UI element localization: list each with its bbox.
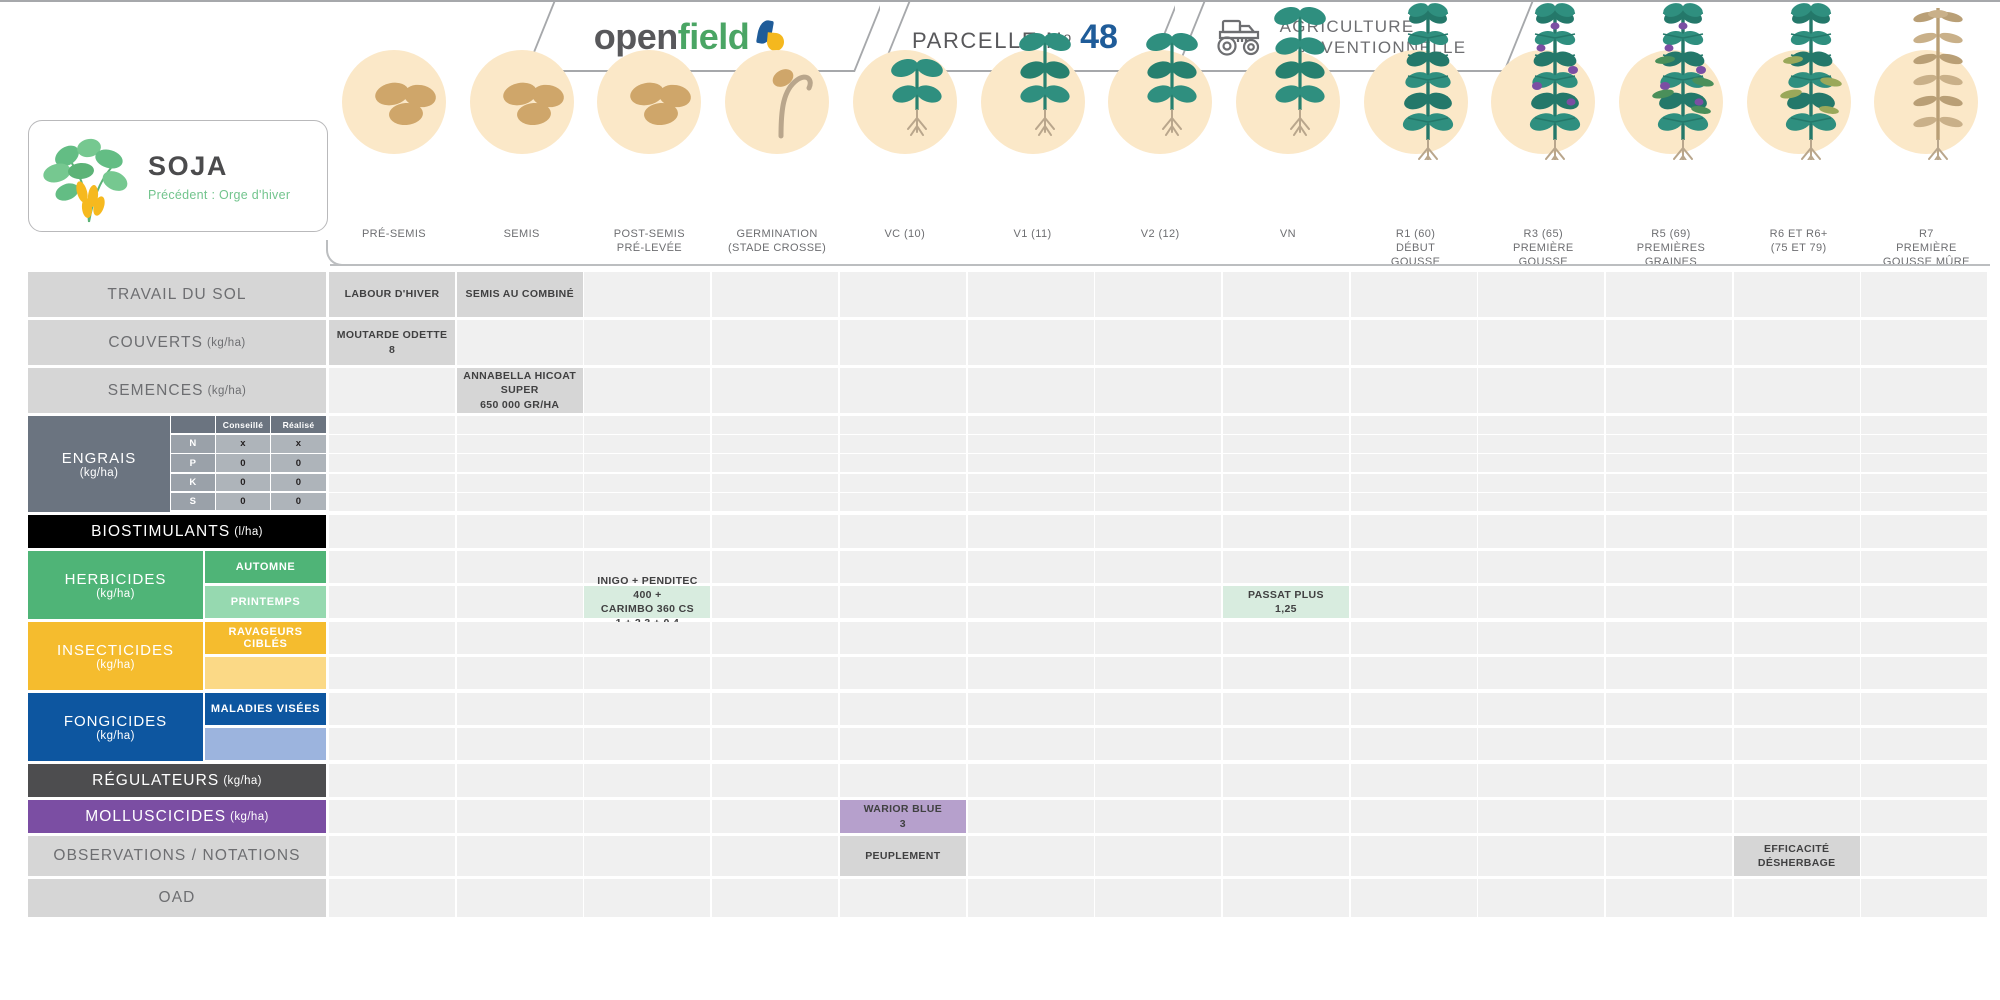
grid-cell-empty[interactable]	[712, 515, 838, 548]
grid-cell[interactable]: LABOUR D'HIVER	[329, 272, 455, 317]
grid-cell-empty[interactable]	[329, 551, 455, 583]
grid-cell-empty[interactable]	[968, 493, 1094, 511]
grid-cell-empty[interactable]	[1606, 879, 1732, 917]
grid-cell-empty[interactable]	[1606, 622, 1732, 654]
grid-cell-empty[interactable]	[584, 622, 710, 654]
grid-cell-empty[interactable]	[1095, 368, 1221, 413]
grid-cell-empty[interactable]	[1095, 836, 1221, 876]
grid-cell-empty[interactable]	[1861, 836, 1987, 876]
fongicides-sub-b[interactable]	[205, 728, 326, 760]
grid-cell-empty[interactable]	[1861, 320, 1987, 365]
grid-cell-empty[interactable]	[968, 693, 1094, 725]
row-fongicides: FONGICIDES (kg/ha) MALADIES VISÉES	[28, 693, 1990, 761]
grid-cell-empty[interactable]	[457, 657, 583, 689]
grid-cell[interactable]: PASSAT PLUS1,25	[1223, 586, 1349, 618]
row-label-regulateurs[interactable]: RÉGULATEURS(kg/ha)	[28, 764, 326, 797]
grid-cell-empty[interactable]	[1478, 728, 1604, 760]
grid-cell-empty[interactable]	[1223, 764, 1349, 797]
grid-cell-empty[interactable]	[1478, 622, 1604, 654]
grid-cell-empty[interactable]	[329, 435, 455, 453]
engrais-conseille[interactable]: x	[216, 435, 270, 452]
grid-cell-empty[interactable]	[584, 800, 710, 833]
grid-cell-empty[interactable]	[584, 764, 710, 797]
grid-cell-empty[interactable]	[1734, 454, 1860, 472]
grid-cell-empty[interactable]	[1095, 493, 1221, 511]
grid-cell-empty[interactable]	[584, 320, 710, 365]
grid-cell-empty[interactable]	[1223, 493, 1349, 511]
grid-cell-empty[interactable]	[840, 454, 966, 472]
grid-cell-empty[interactable]	[329, 879, 455, 917]
grid-cell-empty[interactable]	[457, 728, 583, 760]
grid-cell-empty[interactable]	[1861, 272, 1987, 317]
grid-cell-empty[interactable]	[840, 586, 966, 618]
grid-cell-empty[interactable]	[584, 368, 710, 413]
grid-cell[interactable]: INIGO + PENDITEC 400 +CARIMBO 360 CS1 + …	[584, 586, 710, 618]
grid-cell-empty[interactable]	[1606, 800, 1732, 833]
grid-cell-empty[interactable]	[1606, 416, 1732, 434]
grid-cell-empty[interactable]	[968, 416, 1094, 434]
grid-cell-empty[interactable]	[1606, 320, 1732, 365]
grid-cell-empty[interactable]	[1606, 693, 1732, 725]
grid-cell-empty[interactable]	[968, 879, 1094, 917]
grid-cell[interactable]: MOUTARDE ODETTE8	[329, 320, 455, 365]
grid-cell-empty[interactable]	[1478, 586, 1604, 618]
grid-cell-empty[interactable]	[1095, 764, 1221, 797]
grid-cell-empty[interactable]	[1223, 657, 1349, 689]
grid-cell-empty[interactable]	[584, 435, 710, 453]
engrais-realise[interactable]: 0	[271, 493, 326, 510]
engrais-realise[interactable]: 0	[271, 474, 326, 491]
grid-cell-empty[interactable]	[1223, 800, 1349, 833]
grid-cell-empty[interactable]	[584, 728, 710, 760]
row-regulateurs: RÉGULATEURS(kg/ha)	[28, 764, 1990, 797]
grid-cell-empty[interactable]	[1861, 474, 1987, 492]
stage-column-13[interactable]: R7PREMIÈREGOUSSE MÛRE	[1862, 50, 1990, 154]
grid-cell-empty[interactable]	[1734, 693, 1860, 725]
grid-cell-empty[interactable]	[457, 435, 583, 453]
grid-cell-empty[interactable]	[457, 454, 583, 472]
grid-cell-empty[interactable]	[1223, 551, 1349, 583]
grid-cell-empty[interactable]	[584, 879, 710, 917]
grid-cell-empty[interactable]	[840, 764, 966, 797]
grid-cell-empty[interactable]	[1861, 693, 1987, 725]
insecticides-sub-a[interactable]: RAVAGEURS CIBLÉS	[205, 622, 326, 654]
grid-cell-empty[interactable]	[840, 622, 966, 654]
grid-cell-empty[interactable]	[584, 474, 710, 492]
grid-cell-empty[interactable]	[712, 416, 838, 434]
grid-cell-empty[interactable]	[840, 657, 966, 689]
grid-cell-empty[interactable]	[1606, 272, 1732, 317]
stage-column-2[interactable]: SEMIS	[458, 50, 586, 154]
grid-cell-empty[interactable]	[329, 657, 455, 689]
grid-cell-empty[interactable]	[1478, 474, 1604, 492]
grid-cell-empty[interactable]	[1734, 800, 1860, 833]
grid-cell-empty[interactable]	[1223, 474, 1349, 492]
stage-column-6[interactable]: V1 (11)	[969, 50, 1097, 154]
grid-cell-empty[interactable]	[1351, 493, 1477, 511]
grid-cell-empty[interactable]	[1734, 435, 1860, 453]
grid-cell-empty[interactable]	[1223, 515, 1349, 548]
grid-cell-empty[interactable]	[457, 515, 583, 548]
stage-column-10[interactable]: R3 (65)PREMIÈREGOUSSE	[1479, 50, 1607, 154]
grid-cell-empty[interactable]	[1095, 320, 1221, 365]
grid-cell-empty[interactable]	[1478, 416, 1604, 434]
grid-cell-empty[interactable]	[1861, 493, 1987, 511]
grid-cell-empty[interactable]	[1734, 416, 1860, 434]
grid-cell-empty[interactable]	[329, 693, 455, 725]
grid-cell-empty[interactable]	[968, 474, 1094, 492]
grid-cell-empty[interactable]	[840, 515, 966, 548]
stage-column-5[interactable]: VC (10)	[841, 50, 969, 154]
grid-cell-empty[interactable]	[1478, 493, 1604, 511]
grid-cell-empty[interactable]	[329, 836, 455, 876]
engrais-realise[interactable]: x	[271, 435, 326, 452]
grid-cell-empty[interactable]	[1734, 474, 1860, 492]
grid-cell-empty[interactable]	[1351, 515, 1477, 548]
grid-cell-empty[interactable]	[1095, 435, 1221, 453]
row-cells-semences: ANNABELLA HICOATSUPER650 000 GR/HA	[329, 368, 1990, 413]
grid-cell[interactable]: PEUPLEMENT	[840, 836, 966, 876]
grid-cell-empty[interactable]	[1351, 454, 1477, 472]
grid-cell-empty[interactable]	[712, 693, 838, 725]
grid-cell-empty[interactable]	[1734, 728, 1860, 760]
grid-cell-empty[interactable]	[1606, 764, 1732, 797]
grid-cell-empty[interactable]	[1095, 272, 1221, 317]
grid-cell-empty[interactable]	[1351, 657, 1477, 689]
row-label-couverts[interactable]: COUVERTS(kg/ha)	[28, 320, 326, 365]
grid-cell-empty[interactable]	[1734, 764, 1860, 797]
grid-cell-empty[interactable]	[1734, 272, 1860, 317]
grid-cell[interactable]: WARIOR BLUE3	[840, 800, 966, 833]
fongicides-sub-a[interactable]: MALADIES VISÉES	[205, 693, 326, 725]
grid-cell-empty[interactable]	[1223, 320, 1349, 365]
grid-cell-empty[interactable]	[1478, 368, 1604, 413]
crop-previous: Précédent : Orge d'hiver	[148, 188, 290, 202]
grid-cell-empty[interactable]	[840, 368, 966, 413]
grid-cell-empty[interactable]	[1351, 800, 1477, 833]
grid-cell-empty[interactable]	[712, 622, 838, 654]
grid-cell-empty[interactable]	[1478, 693, 1604, 725]
grid-cell-empty[interactable]	[329, 728, 455, 760]
grid-cell-empty[interactable]	[1223, 622, 1349, 654]
stage-column-8[interactable]: VN	[1224, 50, 1352, 154]
grid-cell-empty[interactable]	[1478, 764, 1604, 797]
grid-cell-empty[interactable]	[1095, 515, 1221, 548]
grid-cell-empty[interactable]	[712, 764, 838, 797]
grid-cell-empty[interactable]	[1095, 879, 1221, 917]
engrais-table: Conseillé Réalisé N x x P 0 0 K 0 0 S 0 …	[171, 416, 326, 512]
grid-cell-empty[interactable]	[712, 586, 838, 618]
grid-cell-empty[interactable]	[1351, 622, 1477, 654]
grid-cell-empty[interactable]	[1734, 368, 1860, 413]
grid-cell-empty[interactable]	[1606, 454, 1732, 472]
row-cells-fongicides-b	[329, 728, 1990, 760]
row-cells-fongicides-a	[329, 693, 1990, 725]
grid-cell-empty[interactable]	[329, 586, 455, 618]
row-label-oad[interactable]: OAD	[28, 879, 326, 917]
grid-cell-empty[interactable]	[1351, 764, 1477, 797]
grid-cell-empty[interactable]	[1478, 454, 1604, 472]
grid-cell-empty[interactable]	[1861, 764, 1987, 797]
grid-cell-empty[interactable]	[1223, 728, 1349, 760]
grid-cell-empty[interactable]	[1351, 879, 1477, 917]
grid-cell-empty[interactable]	[840, 435, 966, 453]
grid-cell-empty[interactable]	[457, 474, 583, 492]
grid-cell-empty[interactable]	[584, 493, 710, 511]
grid-cell-empty[interactable]	[1095, 551, 1221, 583]
herbicides-sub-b[interactable]: PRINTEMPS	[205, 586, 326, 618]
row-label-molluscicides[interactable]: MOLLUSCICIDES(kg/ha)	[28, 800, 326, 833]
stage-column-3[interactable]: POST-SEMISPRÉ-LEVÉE	[585, 50, 713, 154]
grid-cell-empty[interactable]	[1606, 515, 1732, 548]
insecticides-sub-b[interactable]	[205, 657, 326, 689]
grid-cell-empty[interactable]	[1861, 728, 1987, 760]
grid-cell-empty[interactable]	[840, 551, 966, 583]
grid-cell-empty[interactable]	[968, 622, 1094, 654]
grid-cell-empty[interactable]	[1606, 836, 1732, 876]
grid-cell-empty[interactable]	[712, 728, 838, 760]
grid-cell-empty[interactable]	[457, 800, 583, 833]
grid-cell-empty[interactable]	[1606, 728, 1732, 760]
grid-cell-empty[interactable]	[840, 272, 966, 317]
grid-cell-empty[interactable]	[1223, 435, 1349, 453]
row-label-observations[interactable]: OBSERVATIONS / NOTATIONS	[28, 836, 326, 876]
grid-cell-empty[interactable]	[1478, 551, 1604, 583]
grid-cell-empty[interactable]	[1223, 836, 1349, 876]
grid-cell-empty[interactable]	[1734, 879, 1860, 917]
grid-cell-empty[interactable]	[329, 515, 455, 548]
grid-cell-empty[interactable]	[457, 836, 583, 876]
grid-cell-empty[interactable]	[1095, 454, 1221, 472]
grid-cell-empty[interactable]	[1351, 836, 1477, 876]
herbicides-sub-a[interactable]: AUTOMNE	[205, 551, 326, 583]
grid-cell-empty[interactable]	[712, 474, 838, 492]
engrais-conseille[interactable]: 0	[216, 493, 270, 510]
grid-cell-empty[interactable]	[1478, 879, 1604, 917]
grid-cell-empty[interactable]	[1095, 657, 1221, 689]
grid-cell-empty[interactable]	[968, 728, 1094, 760]
grid-cell-empty[interactable]	[584, 693, 710, 725]
grid-cell-empty[interactable]	[840, 320, 966, 365]
grid-cell-empty[interactable]	[1734, 586, 1860, 618]
grid-cell-empty[interactable]	[457, 416, 583, 434]
grid-cell-empty[interactable]	[457, 693, 583, 725]
row-label-text: RÉGULATEURS	[92, 772, 219, 790]
grid-cell-empty[interactable]	[1478, 435, 1604, 453]
grid-cell-empty[interactable]	[584, 454, 710, 472]
grid-cell-empty[interactable]	[1351, 320, 1477, 365]
grid-cell-empty[interactable]	[1095, 416, 1221, 434]
grid-cell-empty[interactable]	[457, 320, 583, 365]
row-label-herbicides[interactable]: HERBICIDES (kg/ha)	[28, 551, 203, 619]
stage-circle	[342, 50, 446, 154]
grid-cell-empty[interactable]	[1606, 551, 1732, 583]
stage-column-9[interactable]: R1 (60)DÉBUTGOUSSE	[1352, 50, 1480, 154]
grid-cell-empty[interactable]	[1095, 693, 1221, 725]
grid-cell-empty[interactable]	[584, 836, 710, 876]
grid-cell-empty[interactable]	[1351, 368, 1477, 413]
grid-cell-empty[interactable]	[1351, 272, 1477, 317]
grid-cell-empty[interactable]	[1861, 879, 1987, 917]
grid-cell-empty[interactable]	[1223, 879, 1349, 917]
grid-cell-empty[interactable]	[712, 320, 838, 365]
row-label-fongicides[interactable]: FONGICIDES (kg/ha)	[28, 693, 203, 761]
grid-cell-empty[interactable]	[329, 474, 455, 492]
grid-cell-empty[interactable]	[1351, 435, 1477, 453]
grid-cell-empty[interactable]	[840, 879, 966, 917]
grid-cell-empty[interactable]	[712, 435, 838, 453]
grid-cell-empty[interactable]	[1223, 272, 1349, 317]
grid-cell-empty[interactable]	[584, 515, 710, 548]
grid-cell-empty[interactable]	[1478, 515, 1604, 548]
grid-cell-empty[interactable]	[712, 454, 838, 472]
row-label-text: SEMENCES	[108, 382, 204, 400]
grid-cell-empty[interactable]	[1223, 454, 1349, 472]
grid-cell[interactable]: EFFICACITÉDÉSHERBAGE	[1734, 836, 1860, 876]
row-label-text: OBSERVATIONS / NOTATIONS	[53, 847, 300, 865]
grid-cell-empty[interactable]	[1606, 493, 1732, 511]
grid-cell-empty[interactable]	[968, 272, 1094, 317]
grid-cell-empty[interactable]	[712, 272, 838, 317]
grid-cell-empty[interactable]	[1095, 728, 1221, 760]
grid-cell-empty[interactable]	[457, 764, 583, 797]
grid-cell-empty[interactable]	[329, 454, 455, 472]
grid-cell-empty[interactable]	[1734, 320, 1860, 365]
grid-cell-empty[interactable]	[1861, 551, 1987, 583]
grid-cell-empty[interactable]	[1734, 493, 1860, 511]
stage-column-1[interactable]: PRÉ-SEMIS	[330, 50, 458, 154]
grid-cell-empty[interactable]	[1734, 551, 1860, 583]
grid-cell-empty[interactable]	[840, 728, 966, 760]
grid-cell-empty[interactable]	[329, 764, 455, 797]
grid-cell-empty[interactable]	[968, 320, 1094, 365]
grid-cell-empty[interactable]	[840, 474, 966, 492]
grid-cell-empty[interactable]	[1223, 416, 1349, 434]
grid-cell-empty[interactable]	[329, 493, 455, 511]
stage-column-4[interactable]: GERMINATION(STADE CROSSE)	[713, 50, 841, 154]
grid-cell-empty[interactable]	[1095, 800, 1221, 833]
grid-cell-empty[interactable]	[457, 493, 583, 511]
grid-cell-empty[interactable]	[584, 272, 710, 317]
grid-cell-empty[interactable]	[1861, 586, 1987, 618]
stage-column-11[interactable]: R5 (69)PREMIÈRESGRAINES	[1607, 50, 1735, 154]
grid-cell-empty[interactable]	[968, 800, 1094, 833]
grid-cell-empty[interactable]	[1734, 657, 1860, 689]
grid-cell-empty[interactable]	[1478, 272, 1604, 317]
grid-cell-empty[interactable]	[1351, 586, 1477, 618]
grid-cell-empty[interactable]	[1351, 474, 1477, 492]
grid-cell-empty[interactable]	[329, 622, 455, 654]
grid-cell-empty[interactable]	[457, 551, 583, 583]
grid-cell-empty[interactable]	[968, 515, 1094, 548]
grid-cell-empty[interactable]	[1095, 474, 1221, 492]
grid-cell-empty[interactable]	[968, 586, 1094, 618]
engrais-realise[interactable]: 0	[271, 454, 326, 471]
grid-cell-empty[interactable]	[712, 879, 838, 917]
grid-cell-empty[interactable]	[712, 836, 838, 876]
grid-cell-empty[interactable]	[1606, 474, 1732, 492]
grid-cell-empty[interactable]	[1734, 622, 1860, 654]
grid-cell-empty[interactable]	[968, 657, 1094, 689]
grid-cell-empty[interactable]	[329, 416, 455, 434]
grid-cell-empty[interactable]	[457, 586, 583, 618]
grid-cell-empty[interactable]	[1861, 368, 1987, 413]
grid-cell-empty[interactable]	[1861, 622, 1987, 654]
grid-cell-empty[interactable]	[968, 836, 1094, 876]
engrais-conseille[interactable]: 0	[216, 454, 270, 471]
grid-cell-empty[interactable]	[329, 368, 455, 413]
grid-cell-empty[interactable]	[1606, 368, 1732, 413]
row-label-travail-du-sol[interactable]: TRAVAIL DU SOL	[28, 272, 326, 317]
grid-cell-empty[interactable]	[712, 657, 838, 689]
row-biostimulants: BIOSTIMULANTS(l/ha)	[28, 515, 1990, 548]
grid-cell-empty[interactable]	[584, 416, 710, 434]
row-label-biostimulants[interactable]: BIOSTIMULANTS(l/ha)	[28, 515, 326, 548]
grid-cell-empty[interactable]	[1861, 657, 1987, 689]
crop-card[interactable]: SOJA Précédent : Orge d'hiver	[28, 120, 328, 232]
grid-cell-empty[interactable]	[712, 800, 838, 833]
grid-cell-empty[interactable]	[1478, 836, 1604, 876]
stage-r3-icon	[1491, 0, 1619, 160]
grid-cell-empty[interactable]	[1861, 515, 1987, 548]
grid-cell-empty[interactable]	[457, 622, 583, 654]
grid-cell-empty[interactable]	[712, 551, 838, 583]
grid-cell-empty[interactable]	[1861, 435, 1987, 453]
grid-cell-empty[interactable]	[1606, 657, 1732, 689]
grid-cell-empty[interactable]	[1478, 800, 1604, 833]
grid-cell-empty[interactable]	[1351, 728, 1477, 760]
grid-cell-empty[interactable]	[329, 800, 455, 833]
grid-cell-empty[interactable]	[584, 657, 710, 689]
grid-cell-empty[interactable]	[840, 693, 966, 725]
grid-cell-empty[interactable]	[1861, 416, 1987, 434]
grid-cell-empty[interactable]	[1351, 416, 1477, 434]
engrais-conseille[interactable]: 0	[216, 474, 270, 491]
grid-cell-empty[interactable]	[1478, 657, 1604, 689]
stage-column-12[interactable]: R6 ET R6+(75 ET 79)	[1735, 50, 1863, 154]
grid-cell-empty[interactable]	[1223, 693, 1349, 725]
grid-cell-empty[interactable]	[1734, 515, 1860, 548]
grid-cell-empty[interactable]	[968, 454, 1094, 472]
grid-cell-empty[interactable]	[840, 493, 966, 511]
grid-cell-empty[interactable]	[1351, 551, 1477, 583]
grid-cell-empty[interactable]	[1223, 368, 1349, 413]
row-engrais: ENGRAIS (kg/ha) Conseillé Réalisé N x x …	[28, 416, 1990, 512]
grid-cell-empty[interactable]	[968, 435, 1094, 453]
grid-cell-empty[interactable]	[1478, 320, 1604, 365]
grid-cell[interactable]: SEMIS AU COMBINÉ	[457, 272, 583, 317]
grid-cell-empty[interactable]	[968, 368, 1094, 413]
grid-cell-empty[interactable]	[457, 879, 583, 917]
grid-cell-empty[interactable]	[1095, 586, 1221, 618]
grid-cell-empty[interactable]	[968, 551, 1094, 583]
row-label-semences[interactable]: SEMENCES(kg/ha)	[28, 368, 326, 413]
grid-cell[interactable]: ANNABELLA HICOATSUPER650 000 GR/HA	[457, 368, 583, 413]
grid-cell-empty[interactable]	[1861, 454, 1987, 472]
row-label-engrais[interactable]: ENGRAIS (kg/ha)	[28, 416, 170, 512]
grid-cell-empty[interactable]	[1606, 435, 1732, 453]
grid-cell-empty[interactable]	[1351, 693, 1477, 725]
grid-cell-empty[interactable]	[712, 368, 838, 413]
stage-column-7[interactable]: V2 (12)	[1096, 50, 1224, 154]
grid-cell-empty[interactable]	[968, 764, 1094, 797]
grid-cell-empty[interactable]	[840, 416, 966, 434]
row-label-insecticides[interactable]: INSECTICIDES (kg/ha)	[28, 622, 203, 690]
grid-cell-empty[interactable]	[1095, 622, 1221, 654]
grid-cell-empty[interactable]	[1861, 800, 1987, 833]
grid-cell-empty[interactable]	[712, 493, 838, 511]
grid-cell-empty[interactable]	[1606, 586, 1732, 618]
